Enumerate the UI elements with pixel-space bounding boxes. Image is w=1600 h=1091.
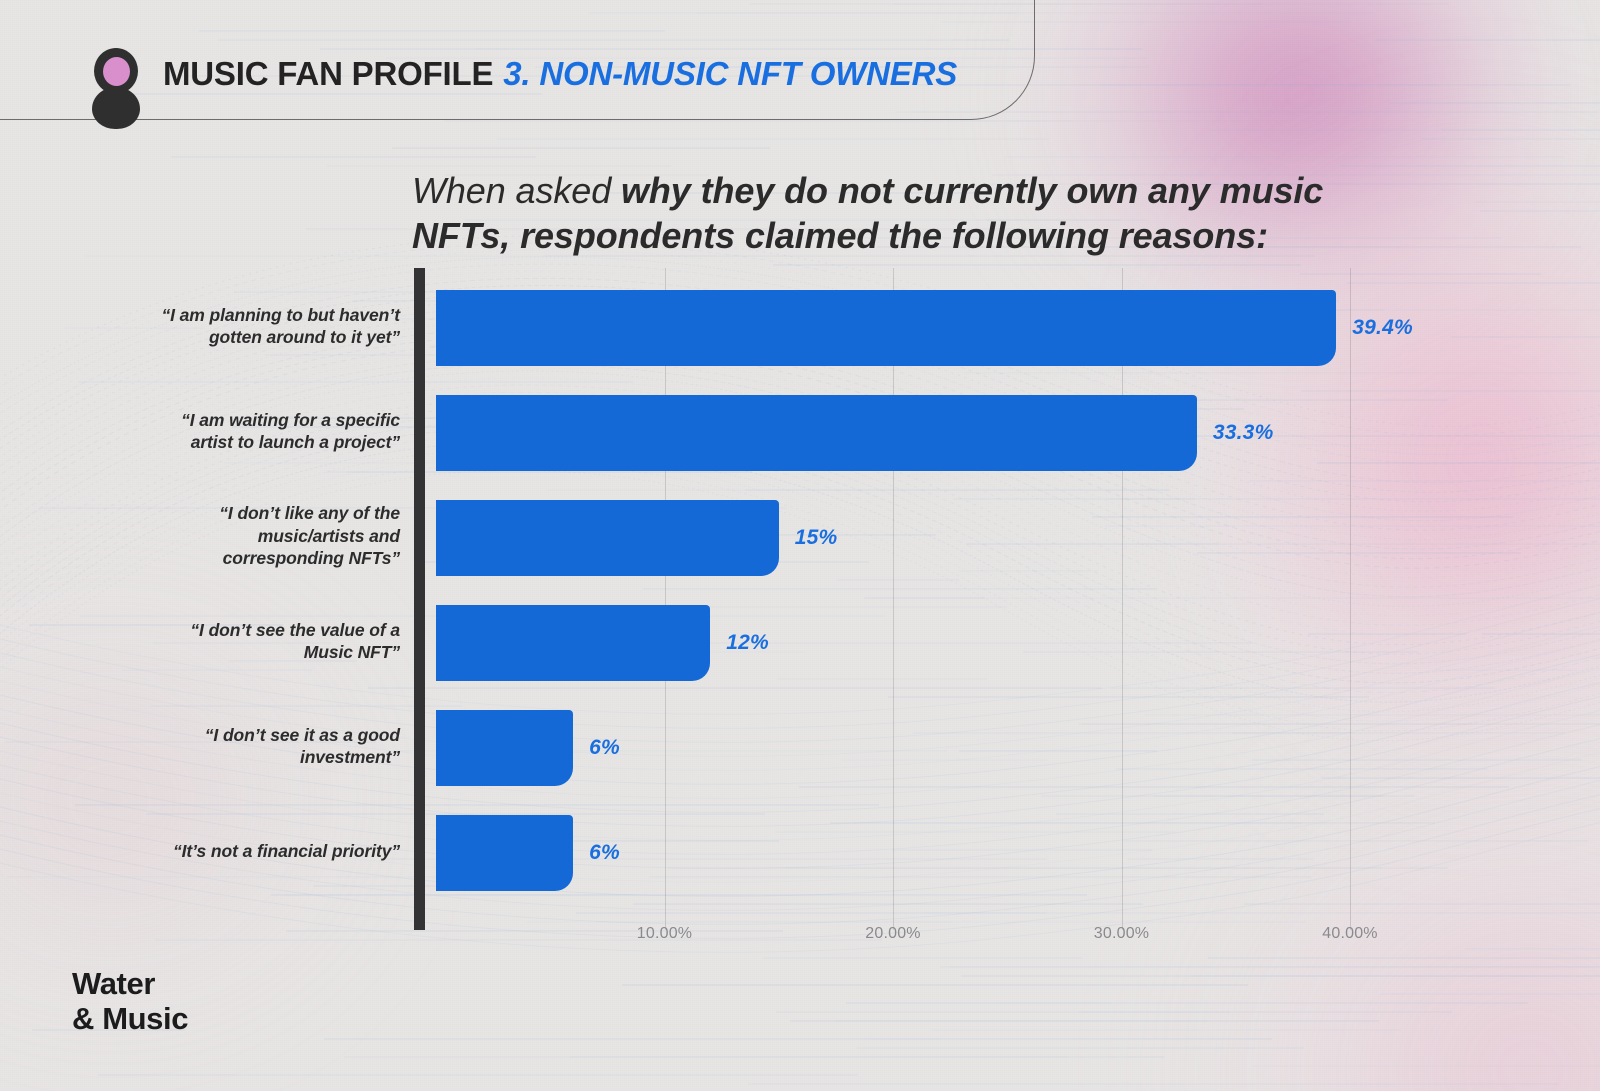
page-title-main: MUSIC FAN PROFILE — [163, 55, 493, 92]
y-axis-label-line: “It’s not a financial priority” — [100, 840, 400, 862]
logo-blob-icon — [92, 87, 140, 129]
footer-brand-logo: Water & Music — [72, 967, 188, 1036]
y-axis-label-line: “I am waiting for a specific — [100, 409, 400, 431]
bar-row[interactable]: 6% — [436, 710, 773, 786]
bar-value-label: 39.4% — [1352, 316, 1413, 340]
chart-gridline — [893, 268, 894, 930]
footer-brand-line-1: Water — [72, 967, 188, 1002]
y-axis-label-line: corresponding NFTs” — [100, 547, 400, 569]
y-axis-label-line: “I don’t like any of the — [100, 502, 400, 524]
chart-gridline — [1350, 268, 1351, 930]
y-axis-label: “I don’t like any of themusic/artists an… — [100, 502, 400, 569]
bar[interactable] — [436, 710, 573, 786]
y-axis-label-line: “I am planning to but haven’t — [100, 304, 400, 326]
bar[interactable] — [436, 500, 779, 576]
y-axis-label-line: artist to launch a project” — [100, 431, 400, 453]
y-axis-label: “It’s not a financial priority” — [100, 840, 400, 862]
y-axis-line — [414, 268, 425, 930]
page-title: MUSIC FAN PROFILE3. NON-MUSIC NFT OWNERS — [163, 57, 957, 90]
y-axis-label: “I don’t see the value of aMusic NFT” — [100, 619, 400, 664]
bar-row[interactable]: 6% — [436, 815, 773, 891]
y-axis-label: “I am waiting for a specificartist to la… — [100, 409, 400, 454]
y-axis-label-line: investment” — [100, 746, 400, 768]
bar-value-label: 6% — [589, 841, 620, 865]
bar[interactable] — [436, 395, 1197, 471]
bar[interactable] — [436, 605, 710, 681]
y-axis-label-line: “I don’t see it as a good — [100, 724, 400, 746]
y-axis-label: “I am planning to but haven’tgotten arou… — [100, 304, 400, 349]
bar[interactable] — [436, 815, 573, 891]
brand-logo-icon — [88, 48, 146, 128]
x-axis-tick-label: 20.00% — [865, 925, 920, 943]
bar-row[interactable]: 15% — [436, 500, 979, 576]
bar-row[interactable]: 12% — [436, 605, 910, 681]
y-axis-label-line: music/artists and — [100, 525, 400, 547]
footer-brand-line-2: & Music — [72, 1002, 188, 1037]
bar-row[interactable]: 33.3% — [436, 395, 1397, 471]
y-axis-label-line: “I don’t see the value of a — [100, 619, 400, 641]
bar[interactable] — [436, 290, 1336, 366]
y-axis-label-line: Music NFT” — [100, 641, 400, 663]
y-axis-label: “I don’t see it as a goodinvestment” — [100, 724, 400, 769]
x-axis-tick-label: 40.00% — [1322, 925, 1377, 943]
page-title-accent: 3. NON-MUSIC NFT OWNERS — [503, 55, 957, 92]
bar-row[interactable]: 39.4% — [436, 290, 1536, 366]
x-axis-tick-label: 30.00% — [1094, 925, 1149, 943]
bar-value-label: 12% — [726, 631, 769, 655]
bar-value-label: 33.3% — [1213, 421, 1274, 445]
bar-chart: 39.4%33.3%15%12%6%6% 10.00%20.00%30.00%4… — [0, 0, 1600, 1091]
x-axis-tick-label: 10.00% — [637, 925, 692, 943]
chart-gridline — [1122, 268, 1123, 930]
bar-value-label: 6% — [589, 736, 620, 760]
y-axis-label-line: gotten around to it yet” — [100, 326, 400, 348]
bar-value-label: 15% — [795, 526, 838, 550]
